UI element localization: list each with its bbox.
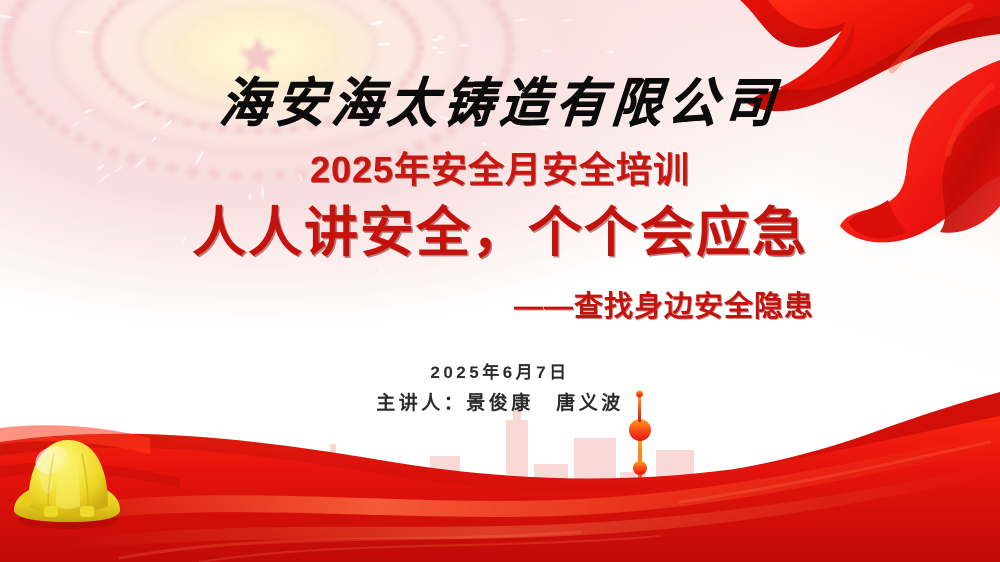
main-slogan: 人人讲安全，个个会应急 bbox=[0, 205, 1000, 262]
presentation-date: 2025年6月7日 bbox=[0, 358, 1000, 383]
presenter-names: 主讲人：景俊康 唐义波 bbox=[0, 388, 1000, 415]
course-title: 2025年安全月安全培训 bbox=[0, 152, 1000, 188]
presentation-slide: 海安海太铸造有限公司 2025年安全月安全培训 人人讲安全，个个会应急 ——查找… bbox=[0, 0, 1000, 562]
safety-helmet-icon bbox=[6, 424, 126, 532]
company-title: 海安海太铸造有限公司 bbox=[0, 77, 1000, 130]
slogan-subtitle: ——查找身边安全隐患 bbox=[514, 293, 814, 322]
